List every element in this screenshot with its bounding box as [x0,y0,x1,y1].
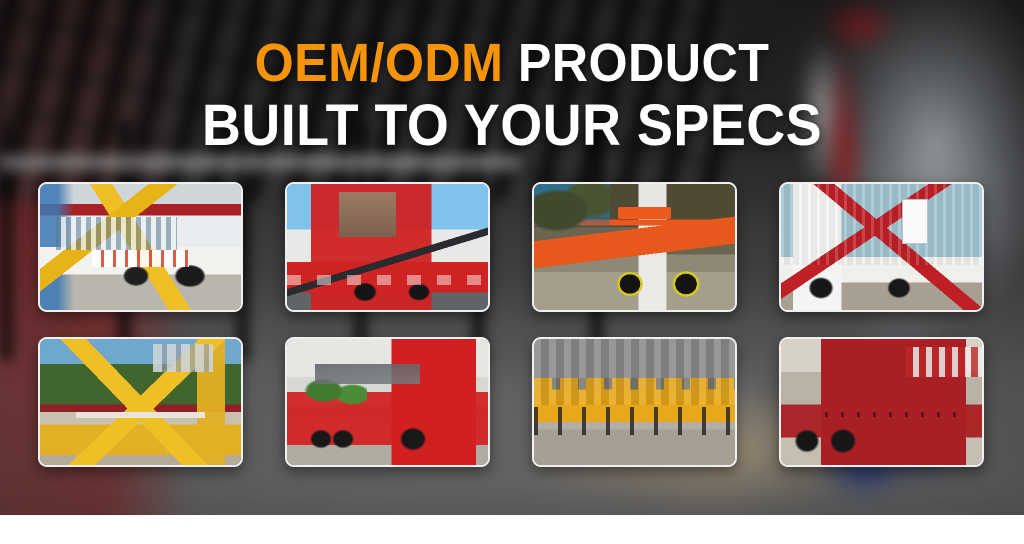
product-photo-red-cargo-crane-truck [781,339,982,465]
product-photo-crane-units-warehouse [534,339,735,465]
banner-headline: OEM/ODM PRODUCT BUILT TO YOUR SPECS [0,38,1024,154]
gallery-card-6[interactable] [285,337,490,467]
oem-odm-promo-banner: OEM/ODM PRODUCT BUILT TO YOUR SPECS [0,0,1024,544]
gallery-card-1[interactable] [38,182,243,312]
gallery-card-3[interactable] [532,182,737,312]
product-photo-fire-truck [287,184,488,310]
headline-line-2: BUILT TO YOUR SPECS [36,98,988,154]
headline-line-1: OEM/ODM PRODUCT [36,38,988,90]
product-photo-articulated-crane [40,339,241,465]
gallery-card-4[interactable] [779,182,984,312]
headline-plain-text: PRODUCT [503,33,769,93]
gallery-card-7[interactable] [532,337,737,467]
gallery-card-5[interactable] [38,337,243,467]
product-gallery-grid [38,182,986,467]
product-photo-drilling-rig [534,184,735,310]
gallery-card-2[interactable] [285,182,490,312]
product-photo-knuckle-boom-truck [781,184,982,310]
bottom-white-band [0,515,1024,544]
product-photo-white-crane-truck [40,184,241,310]
product-photo-red-truck-chassis [287,339,488,465]
headline-accent-text: OEM/ODM [255,33,504,93]
gallery-card-8[interactable] [779,337,984,467]
